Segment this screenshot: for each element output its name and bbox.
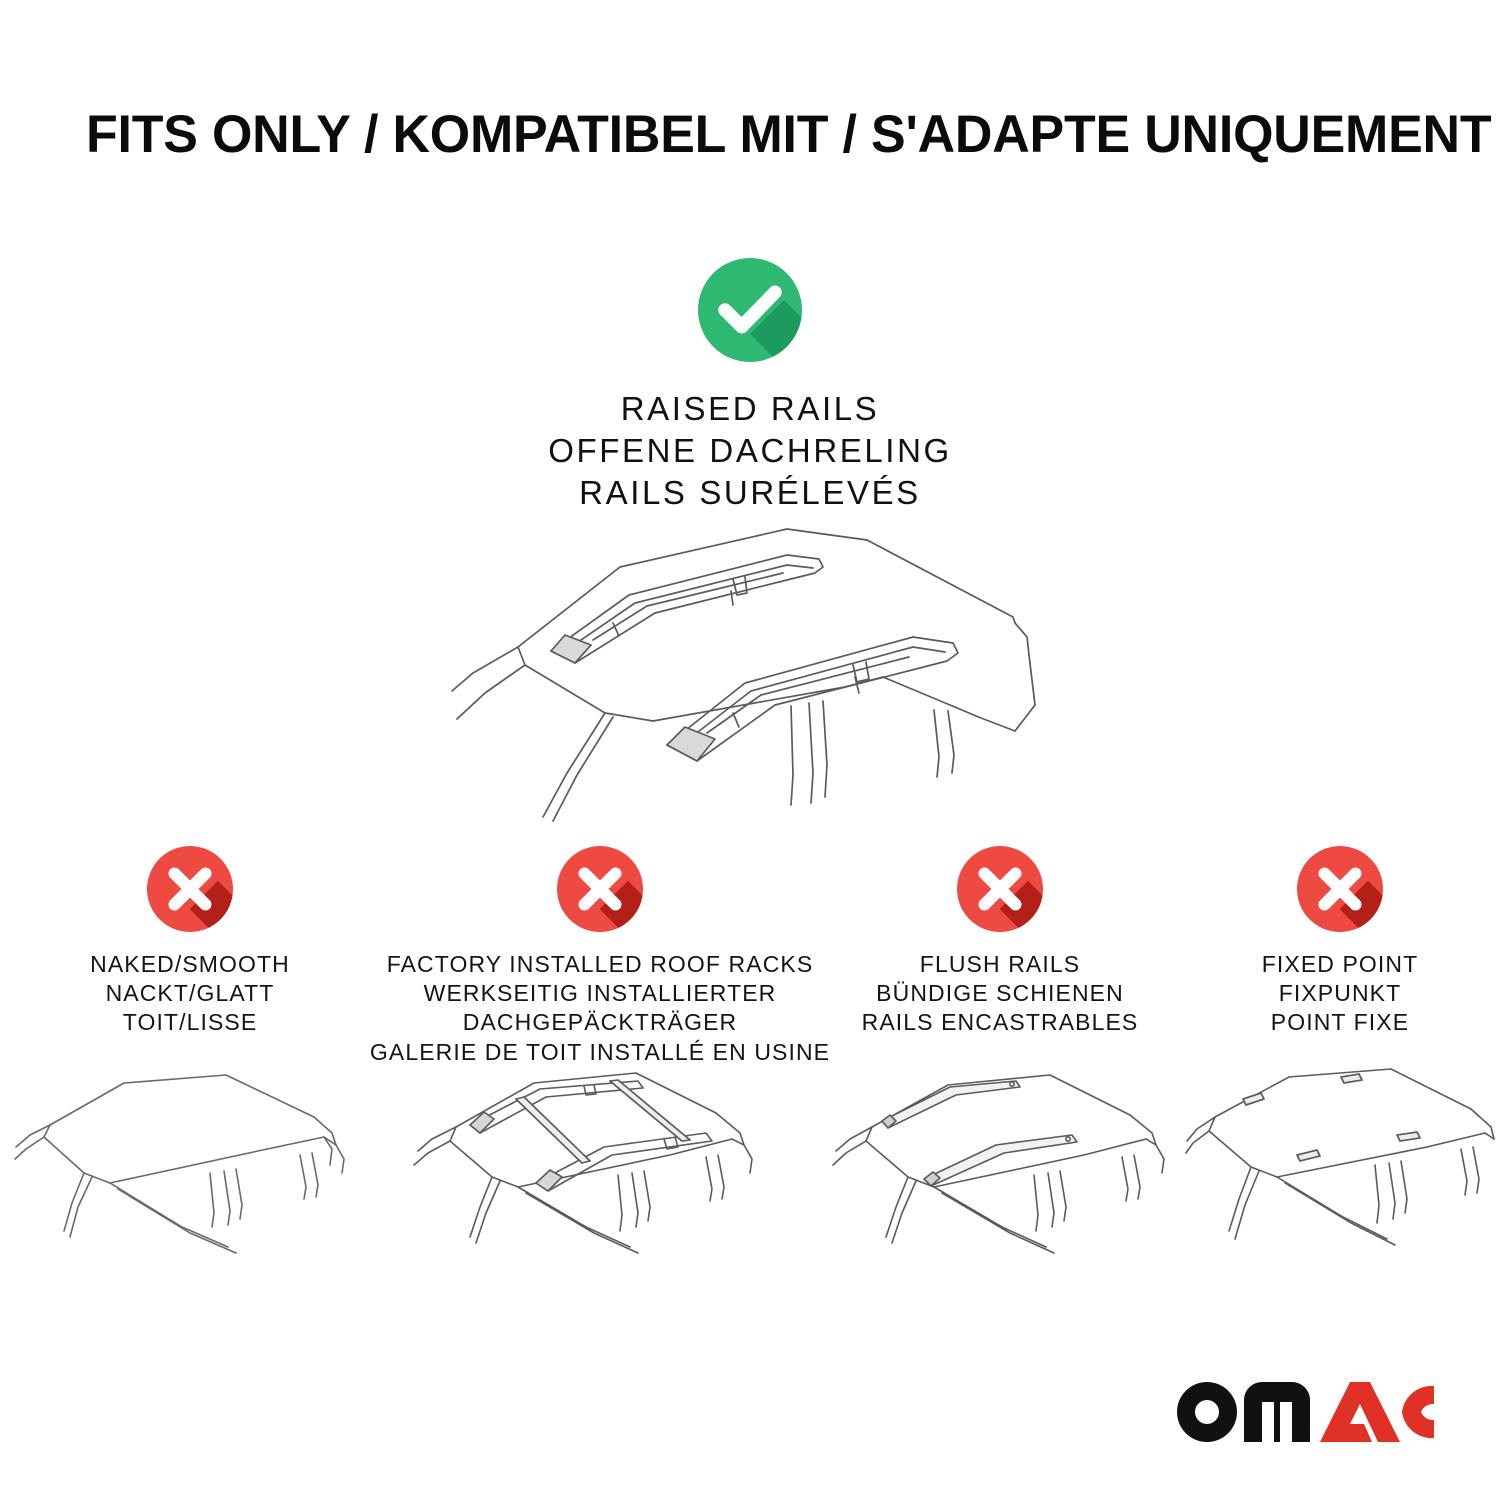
reject-label-en: FACTORY INSTALLED ROOF RACKS xyxy=(370,950,830,979)
approved-label-de: OFFENE DACHRELING xyxy=(548,430,952,472)
reject-item-factory-roof-racks: FACTORY INSTALLED ROOF RACKS WERKSEITIG … xyxy=(380,846,820,1067)
reject-label-en: FIXED POINT xyxy=(1262,950,1419,979)
reject-label-de: NACKT/GLATT xyxy=(90,979,290,1008)
page-title: FITS ONLY / KOMPATIBEL MIT / S'ADAPTE UN… xyxy=(86,108,1395,161)
reject-label-group: FACTORY INSTALLED ROOF RACKS WERKSEITIG … xyxy=(370,950,830,1067)
x-circle-icon xyxy=(147,846,233,932)
rejected-illustration-row xyxy=(0,1055,1500,1295)
reject-item-naked-smooth: NAKED/SMOOTH NACKT/GLATT TOIT/LISSE xyxy=(0,846,380,1038)
reject-label-group: FLUSH RAILS BÜNDIGE SCHIENEN RAILS ENCAS… xyxy=(862,950,1139,1038)
approved-label-group: RAISED RAILS OFFENE DACHRELING RAILS SUR… xyxy=(548,388,952,515)
reject-label-de-1: WERKSEITIG INSTALLIERTER xyxy=(370,979,830,1008)
reject-label-de: BÜNDIGE SCHIENEN xyxy=(862,979,1139,1008)
reject-label-fr: TOIT/LISSE xyxy=(90,1008,290,1037)
logo-letter-a xyxy=(1320,1382,1400,1442)
reject-label-de: FIXPUNKT xyxy=(1262,979,1419,1008)
car-roof-flush-rails-illustration xyxy=(820,1055,1180,1285)
x-mark-glyph xyxy=(957,846,1043,932)
car-roof-factory-racks-illustration xyxy=(380,1055,820,1295)
reject-item-flush-rails: FLUSH RAILS BÜNDIGE SCHIENEN RAILS ENCAS… xyxy=(820,846,1180,1038)
x-mark-glyph xyxy=(1297,846,1383,932)
reject-label-de-2: DACHGEPÄCKTRÄGER xyxy=(370,1008,830,1037)
car-roof-raised-rails-illustration xyxy=(415,505,1095,850)
x-circle-icon xyxy=(557,846,643,932)
reject-label-en: NAKED/SMOOTH xyxy=(90,950,290,979)
x-mark-glyph xyxy=(557,846,643,932)
reject-item-fixed-point: FIXED POINT FIXPUNKT POINT FIXE xyxy=(1180,846,1500,1038)
reject-label-en: FLUSH RAILS xyxy=(862,950,1139,979)
x-circle-icon xyxy=(957,846,1043,932)
x-circle-icon xyxy=(1297,846,1383,932)
approved-label-en: RAISED RAILS xyxy=(548,388,952,430)
logo-letter-m xyxy=(1244,1382,1310,1442)
reject-label-group: FIXED POINT FIXPUNKT POINT FIXE xyxy=(1262,950,1419,1038)
omac-logo xyxy=(1174,1380,1434,1442)
check-circle-icon xyxy=(698,258,802,362)
check-mark-glyph xyxy=(698,258,802,362)
approved-section: RAISED RAILS OFFENE DACHRELING RAILS SUR… xyxy=(0,258,1500,515)
reject-label-fr: RAILS ENCASTRABLES xyxy=(862,1008,1139,1037)
car-roof-fixed-point-illustration xyxy=(1180,1055,1500,1285)
car-roof-naked-illustration xyxy=(0,1055,380,1285)
logo-letter-c xyxy=(1402,1386,1434,1438)
reject-label-fr: POINT FIXE xyxy=(1262,1008,1419,1037)
logo-letter-o xyxy=(1177,1382,1237,1442)
x-mark-glyph xyxy=(147,846,233,932)
reject-label-group: NAKED/SMOOTH NACKT/GLATT TOIT/LISSE xyxy=(90,950,290,1038)
rejected-section: NAKED/SMOOTH NACKT/GLATT TOIT/LISSE FACT… xyxy=(0,846,1500,1067)
